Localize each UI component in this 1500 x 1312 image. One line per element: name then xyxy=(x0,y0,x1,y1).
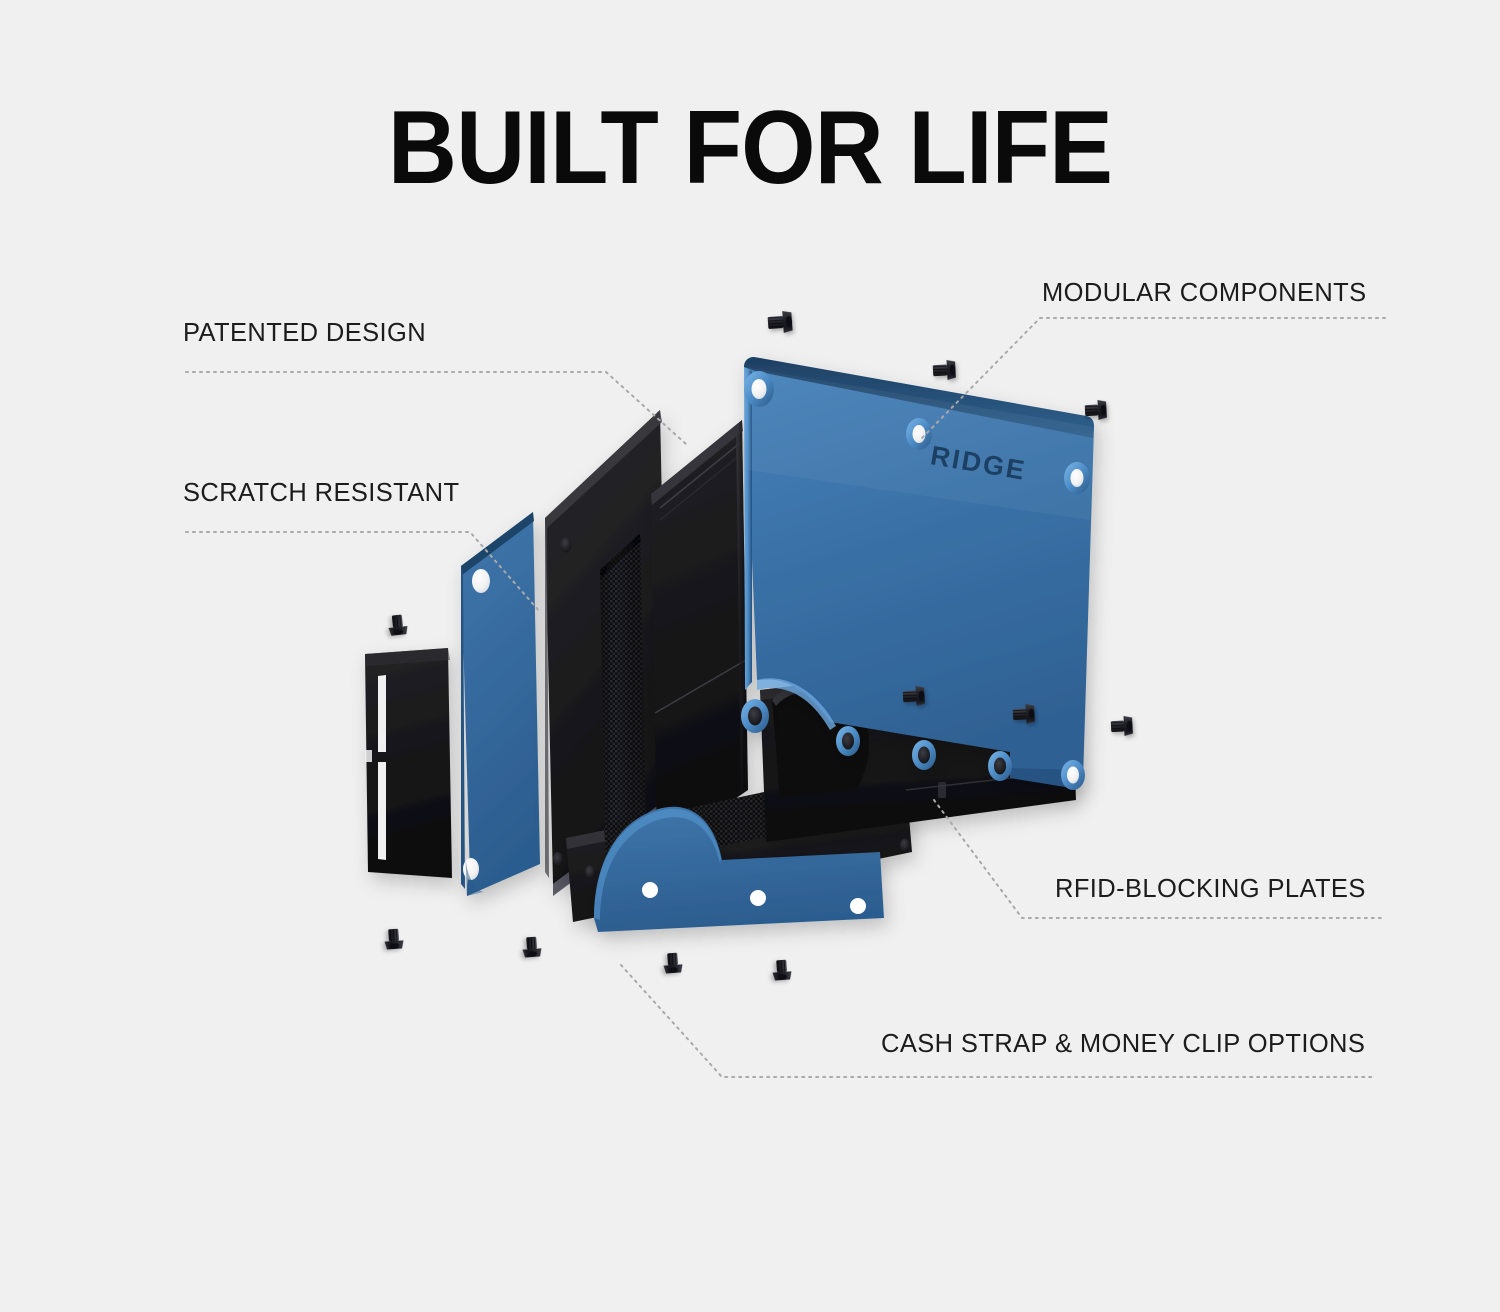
callout-label-rfid-blocking: RFID-BLOCKING PLATES xyxy=(1055,874,1366,904)
page-title: BUILT FOR LIFE xyxy=(60,96,1440,200)
diagram-canvas: RIDGE xyxy=(0,0,1500,1312)
screw xyxy=(387,614,408,636)
screw xyxy=(384,928,404,949)
screw xyxy=(932,360,956,381)
callout-label-modular-components: MODULAR COMPONENTS xyxy=(1042,278,1367,308)
screw xyxy=(522,936,542,957)
callout-label-scratch-resistant: SCRATCH RESISTANT xyxy=(183,478,459,508)
component-inner-track-plate xyxy=(651,420,748,852)
component-money-clip xyxy=(365,648,452,878)
cash-strap-elastic-band xyxy=(600,533,646,865)
screw xyxy=(772,959,792,980)
screw xyxy=(663,952,683,973)
screw xyxy=(767,310,793,334)
screw xyxy=(1110,716,1133,737)
component-rear-blue-plate xyxy=(461,512,540,896)
callout-label-patented-design: PATENTED DESIGN xyxy=(183,318,426,348)
callout-label-cash-strap: CASH STRAP & MONEY CLIP OPTIONS xyxy=(881,1029,1365,1059)
